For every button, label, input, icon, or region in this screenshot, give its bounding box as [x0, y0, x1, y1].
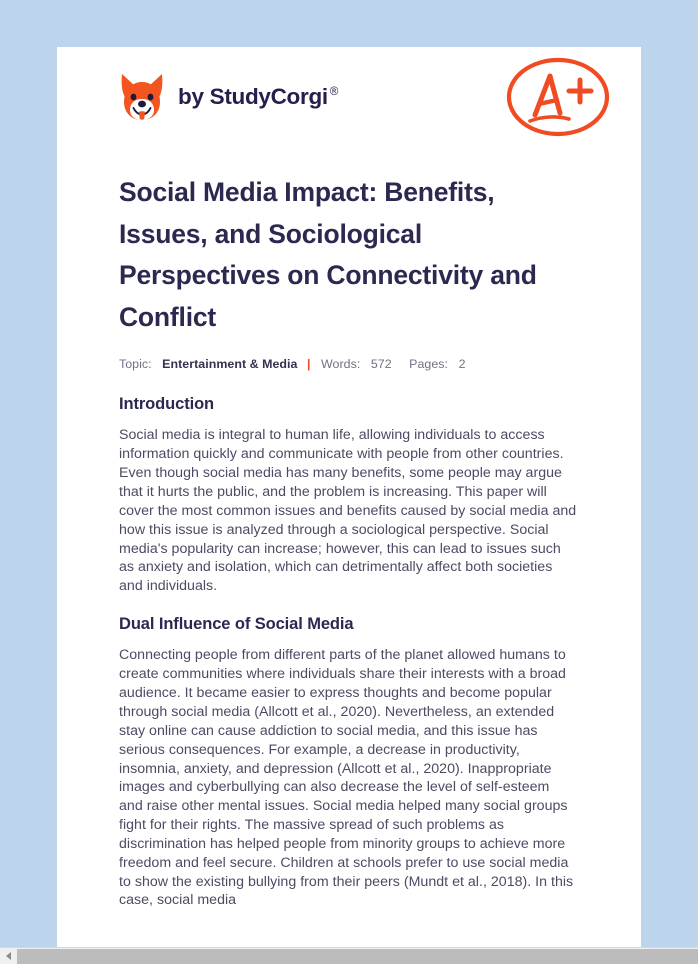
brand-prefix: by	[178, 84, 210, 109]
section-heading-dual-influence: Dual Influence of Social Media	[119, 614, 577, 635]
scroll-left-arrow-icon[interactable]	[0, 948, 16, 964]
document-header: by StudyCorgi®	[57, 47, 641, 152]
words-value: 572	[371, 357, 392, 371]
corgi-face-icon	[119, 72, 165, 122]
article-meta: Topic: Entertainment & Media | Words: 57…	[119, 357, 577, 371]
brand-wordmark: by StudyCorgi®	[178, 86, 338, 109]
topic-link[interactable]: Entertainment & Media	[162, 357, 297, 371]
topic-label: Topic:	[119, 357, 152, 371]
studycorgi-brand[interactable]: by StudyCorgi®	[119, 72, 338, 122]
scrollbar-thumb[interactable]	[17, 949, 698, 964]
article-body: Social Media Impact: Benefits, Issues, a…	[119, 172, 577, 910]
pages-value: 2	[459, 357, 466, 371]
section-paragraph-introduction: Social media is integral to human life, …	[119, 426, 577, 596]
page-title: Social Media Impact: Benefits, Issues, a…	[119, 172, 577, 338]
section-heading-introduction: Introduction	[119, 394, 577, 415]
pages-label: Pages:	[409, 357, 448, 371]
document-page: by StudyCorgi® Social Media Impact: Bene…	[57, 47, 641, 955]
registered-trademark-icon: ®	[330, 86, 338, 98]
brand-name: StudyCorgi	[210, 84, 328, 109]
section-paragraph-dual-influence: Connecting people from different parts o…	[119, 646, 577, 910]
a-plus-circle-icon	[503, 53, 613, 141]
words-label: Words:	[321, 357, 360, 371]
meta-separator: |	[307, 357, 311, 371]
horizontal-scrollbar[interactable]	[0, 947, 698, 964]
